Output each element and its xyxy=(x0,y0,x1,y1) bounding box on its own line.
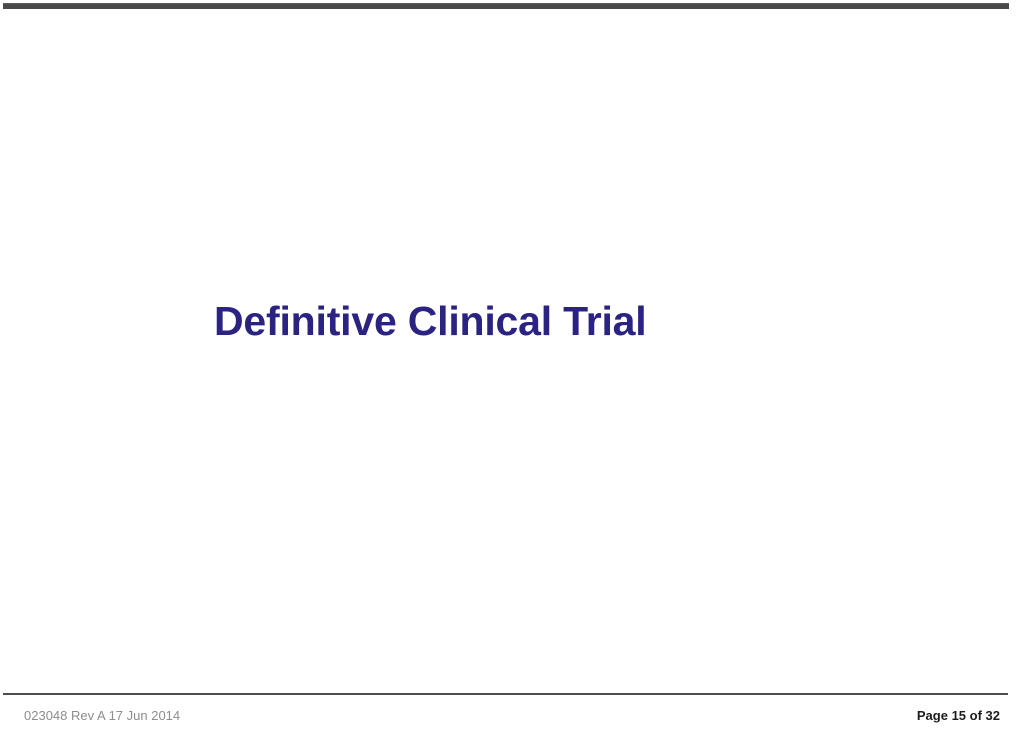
footer-page-number: Page 15 of 32 xyxy=(917,708,1000,724)
top-divider-rule xyxy=(3,3,1009,9)
footer-divider-rule xyxy=(3,693,1008,695)
title-placeholder: Definitive Clinical Trial xyxy=(0,296,1024,362)
page-title: Definitive Clinical Trial xyxy=(214,296,646,346)
body-content-placeholder xyxy=(60,372,964,682)
presentation-slide: Definitive Clinical Trial 023048 Rev A 1… xyxy=(0,0,1024,731)
footer-document-id: 023048 Rev A 17 Jun 2014 xyxy=(24,708,180,724)
